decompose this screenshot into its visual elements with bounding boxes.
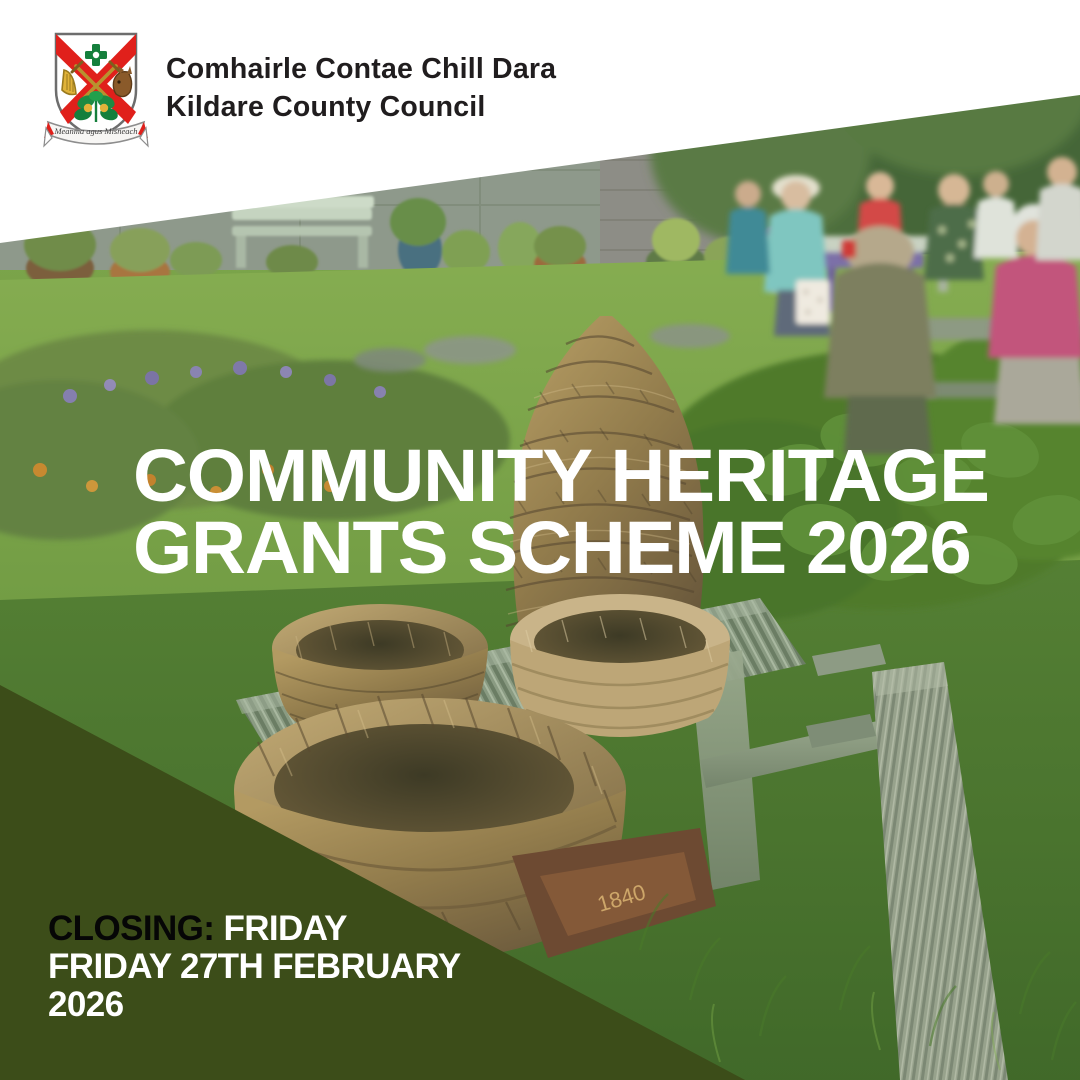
motto-scroll-icon: Meanma agus Misneach — [44, 122, 148, 146]
poster-headline: COMMUNITY HERITAGE GRANTS SCHEME 2026 — [133, 440, 1013, 584]
closing-line-1: CLOSING: FRIDAY — [48, 910, 461, 948]
closing-line-2: FRIDAY 27TH FEBRUARY — [48, 948, 461, 986]
kildare-county-council-logo: Meanma agus Misneach Comhairle Contae Ch… — [40, 26, 556, 150]
poster-canvas: 1840 — [0, 0, 1080, 1080]
crest-motto-text: Meanma agus Misneach — [53, 126, 137, 136]
closing-line-3: 2026 — [48, 986, 461, 1024]
logo-line-english: Kildare County Council — [166, 90, 556, 126]
closing-label: CLOSING: — [48, 909, 214, 948]
headline-line-2: GRANTS SCHEME 2026 — [133, 512, 1039, 584]
closing-date-block: CLOSING: FRIDAY FRIDAY 27TH FEBRUARY 202… — [48, 910, 461, 1024]
closing-line-1-value: FRIDAY — [223, 909, 346, 948]
logo-wordmark: Comhairle Contae Chill Dara Kildare Coun… — [166, 50, 556, 126]
headline-line-1: COMMUNITY HERITAGE — [133, 440, 1039, 512]
kildare-county-council-crest-icon: Meanma agus Misneach — [40, 26, 152, 150]
logo-line-irish: Comhairle Contae Chill Dara — [166, 52, 556, 88]
